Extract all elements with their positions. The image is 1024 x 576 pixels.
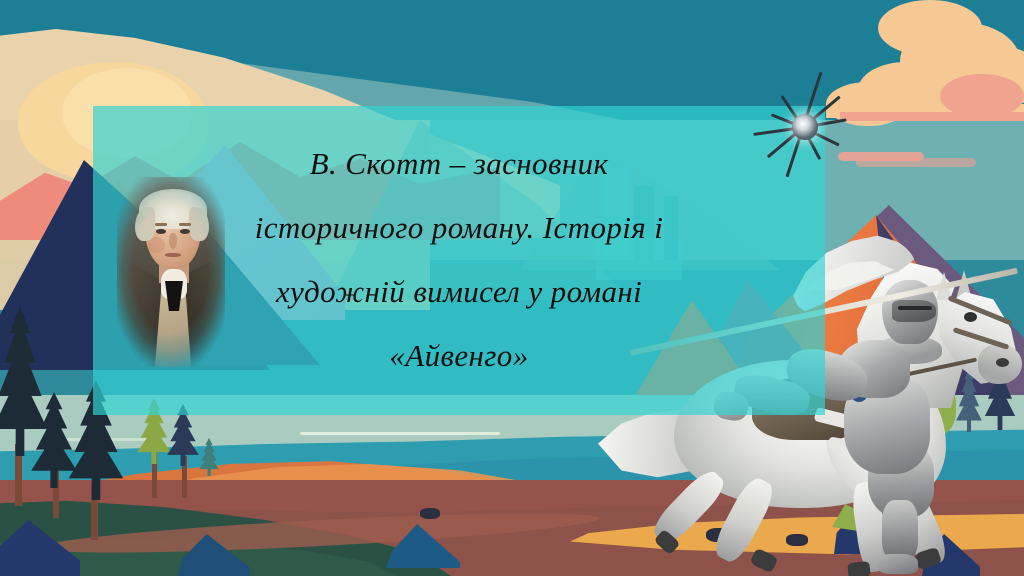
slide-title: В. Скотт – засновник історичного роману.… (93, 132, 825, 388)
rock-dark-3 (420, 508, 440, 519)
title-line-4: «Айвенго» (93, 324, 825, 388)
cloud-5 (878, 0, 982, 56)
rock-dark-2 (786, 534, 808, 546)
title-line-1: В. Скотт – засновник (93, 132, 825, 196)
lake-highlight (300, 432, 500, 435)
title-line-2: історичного роману. Історія і (93, 196, 825, 260)
rock-dark-1 (706, 528, 734, 542)
title-line-3: художній вимисел у романі (93, 260, 825, 324)
bush-green (922, 378, 956, 434)
presentation-slide: В. Скотт – засновник історичного роману.… (0, 0, 1024, 576)
mist-strip-2 (856, 158, 976, 167)
cloud-strip-pink (840, 112, 1024, 121)
